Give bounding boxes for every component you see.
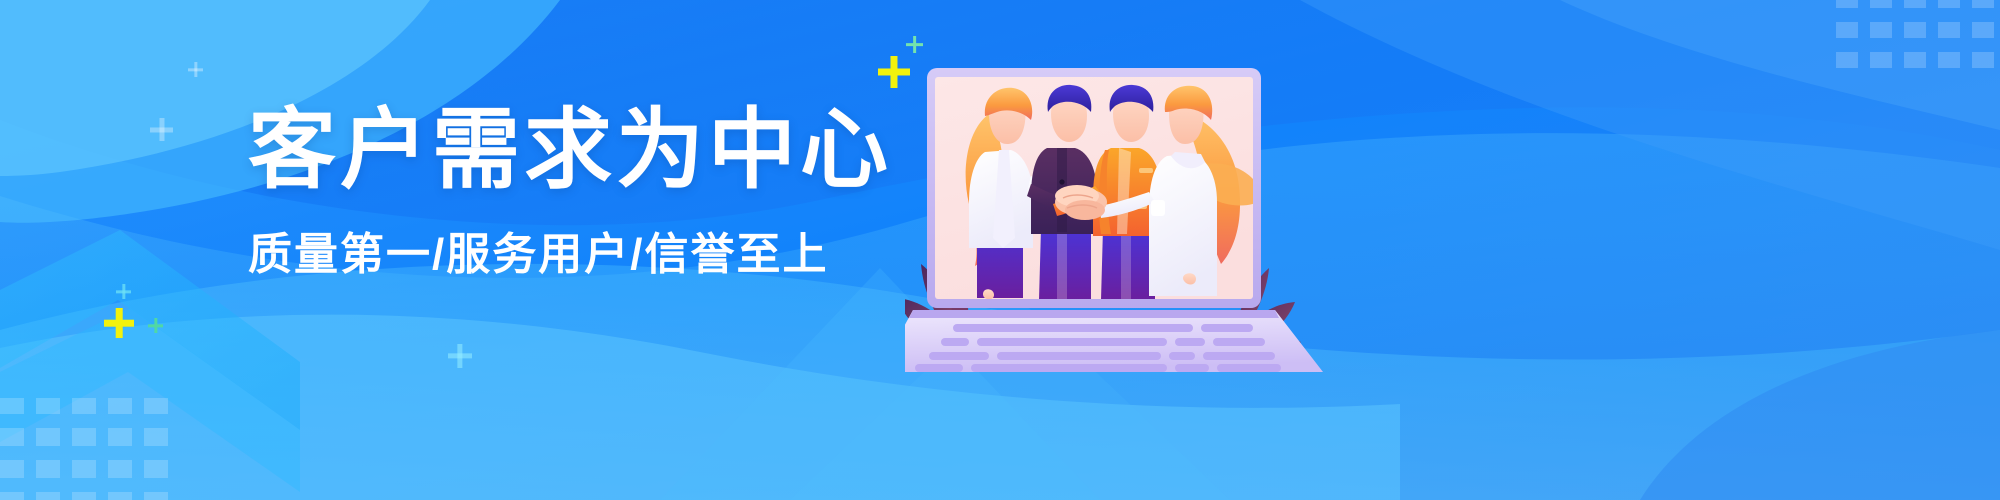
laptop-team-illustration [905, 52, 1325, 382]
promo-banner: 客户需求为中心 质量第一/服务用户/信誉至上 [0, 0, 2000, 500]
plus-teal-small-top-icon [906, 36, 923, 53]
page-title: 客户需求为中心 [248, 104, 888, 196]
plus-teal-faint-left-icon [116, 284, 131, 299]
plus-white-faint-upper-left-icon [188, 62, 203, 77]
plus-teal-small-bottom-left-icon [148, 318, 163, 333]
plus-teal-faint-center-icon [448, 344, 472, 368]
plus-white-faint-left-icon [150, 118, 173, 141]
headline-group: 客户需求为中心 质量第一/服务用户/信誉至上 [248, 104, 888, 282]
page-subtitle: 质量第一/服务用户/信誉至上 [248, 218, 888, 282]
plus-yellow-large-bottom-left-icon [104, 308, 134, 338]
